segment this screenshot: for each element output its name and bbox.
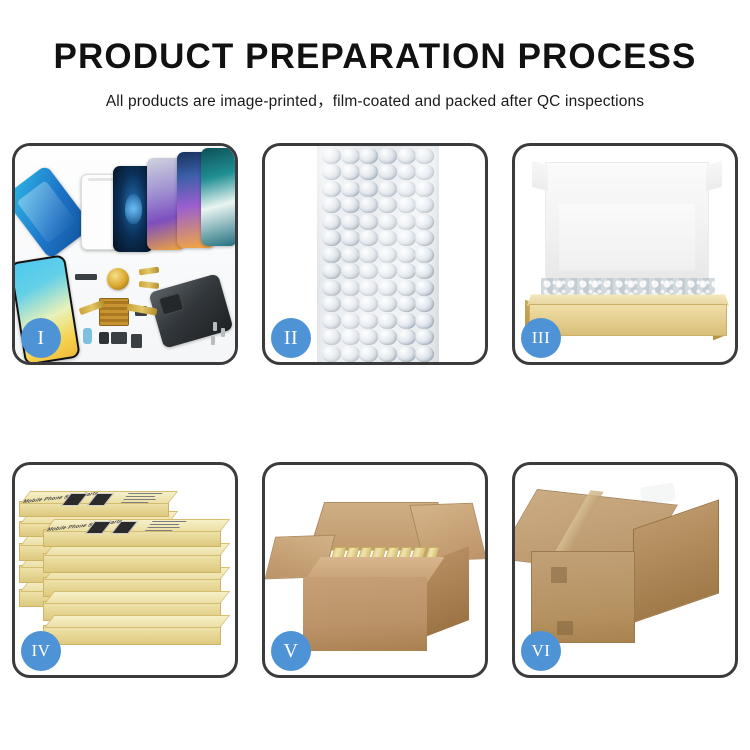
bubble-cell	[322, 230, 341, 247]
process-grid: I II III	[12, 143, 738, 678]
bubble-cell	[359, 197, 378, 214]
bubble-cell	[359, 329, 378, 346]
bubble-cell	[415, 280, 434, 297]
carton-hand-tab-upper	[551, 567, 567, 583]
bubble-cell	[340, 345, 359, 362]
bubble-cell	[322, 312, 341, 329]
box-top-face	[44, 591, 230, 604]
bubble-cell	[340, 148, 359, 165]
bubble-cell	[359, 312, 378, 329]
bubble-cell	[359, 230, 378, 247]
bubble-cell	[378, 247, 397, 264]
bubble-cell	[340, 230, 359, 247]
screw-a	[213, 322, 217, 331]
bubble-cell	[396, 263, 415, 280]
bubble-cell	[322, 181, 341, 198]
bubble-cell	[396, 312, 415, 329]
bubble-cell	[415, 148, 434, 165]
page-title: PRODUCT PREPARATION PROCESS	[0, 38, 750, 77]
bubble-cell	[396, 148, 415, 165]
bubble-cell	[415, 181, 434, 198]
step-badge-4: IV	[21, 631, 61, 671]
bubble-cell	[378, 197, 397, 214]
bubble-cell	[359, 164, 378, 181]
bubble-cell	[378, 164, 397, 181]
bubble-cell	[322, 148, 341, 165]
bubble-cell	[415, 312, 434, 329]
carton-front-face	[303, 577, 427, 651]
box-top-face	[44, 615, 230, 628]
phone-teal-screen	[201, 148, 235, 246]
vibrator-part	[111, 332, 127, 344]
bubble-cell	[340, 197, 359, 214]
step-badge-3: III	[521, 318, 561, 358]
connector-part	[99, 332, 109, 344]
bubble-cell	[340, 329, 359, 346]
bubble-cell	[415, 214, 434, 231]
bubble-cell	[396, 197, 415, 214]
bubble-cell	[396, 296, 415, 313]
bubble-cell	[322, 329, 341, 346]
bubble-cell	[340, 247, 359, 264]
panel-step-3[interactable]: III	[512, 143, 738, 365]
panel-step-5[interactable]: V	[262, 462, 488, 678]
bubble-cell	[378, 181, 397, 198]
bubble-grid	[322, 148, 434, 362]
bubble-cell	[340, 164, 359, 181]
bubble-cell	[340, 263, 359, 280]
bubble-cell	[396, 164, 415, 181]
page-subtitle: All products are image-printed，film-coat…	[0, 89, 750, 111]
bubble-cell	[396, 181, 415, 198]
bubble-cell	[340, 280, 359, 297]
bubble-cell	[359, 148, 378, 165]
bubble-cell	[322, 296, 341, 313]
bubble-cell	[322, 164, 341, 181]
bubble-cell	[322, 247, 341, 264]
bubble-cell	[415, 329, 434, 346]
bubble-cell	[359, 247, 378, 264]
header: PRODUCT PREPARATION PROCESS All products…	[0, 0, 750, 111]
bubble-cell	[378, 230, 397, 247]
button-part	[131, 334, 142, 348]
bubble-cell	[378, 312, 397, 329]
bubble-cell	[396, 247, 415, 264]
carton-hand-tab-lower	[557, 621, 573, 635]
bubble-cell	[359, 296, 378, 313]
bubble-cell	[378, 296, 397, 313]
box-inner-wall	[559, 204, 695, 270]
bubble-cell	[378, 329, 397, 346]
bubble-cell	[340, 312, 359, 329]
bubble-cell	[322, 197, 341, 214]
step-badge-2: II	[271, 318, 311, 358]
bubble-cell	[322, 263, 341, 280]
bubble-wrap-sheet	[317, 146, 439, 362]
bubble-cell	[359, 345, 378, 362]
screw-b	[221, 328, 225, 337]
bubble-cell	[415, 230, 434, 247]
speaker-part	[75, 274, 97, 280]
screw-c	[211, 336, 215, 345]
bubble-cell	[359, 181, 378, 198]
bubble-cell	[359, 280, 378, 297]
bubble-cell	[396, 230, 415, 247]
bubble-cell	[378, 280, 397, 297]
bubble-cell	[359, 214, 378, 231]
wireless-coil-part	[107, 268, 129, 290]
bubble-cell	[340, 296, 359, 313]
bubble-cell	[415, 345, 434, 362]
bubble-cell	[359, 263, 378, 280]
bubble-cell	[415, 247, 434, 264]
battery-part	[83, 328, 92, 344]
bubble-cell	[378, 345, 397, 362]
bubble-cell	[415, 197, 434, 214]
page-root: PRODUCT PREPARATION PROCESS All products…	[0, 0, 750, 750]
panel-step-4[interactable]: Mobile Phone Spare PartsMobile Phone Spa…	[12, 462, 238, 678]
panel-step-2[interactable]: II	[262, 143, 488, 365]
bubble-cell	[396, 345, 415, 362]
bubble-cell	[396, 329, 415, 346]
panel-step-6[interactable]: VI	[512, 462, 738, 678]
bubble-cell	[322, 345, 341, 362]
bubble-cell	[378, 263, 397, 280]
step-badge-1: I	[21, 318, 61, 358]
spare-parts-box	[43, 553, 221, 573]
spare-parts-box: Mobile Phone Spare Parts	[19, 501, 169, 517]
bubble-cell	[322, 280, 341, 297]
bubble-cell	[378, 214, 397, 231]
bubble-cell	[340, 214, 359, 231]
bubble-cell	[340, 181, 359, 198]
step-badge-5: V	[271, 631, 311, 671]
bubble-cell	[322, 214, 341, 231]
bubble-cell	[378, 148, 397, 165]
step-badge-6: VI	[521, 631, 561, 671]
bubble-cell	[415, 164, 434, 181]
bubble-cell	[396, 214, 415, 231]
spare-parts-box: Mobile Phone Spare Parts	[43, 529, 221, 547]
spare-parts-box	[43, 625, 221, 645]
sealed-carton-front	[531, 551, 635, 643]
bubble-cell	[396, 280, 415, 297]
bubble-cell	[415, 263, 434, 280]
panel-step-1[interactable]: I	[12, 143, 238, 365]
bubble-cell	[415, 296, 434, 313]
